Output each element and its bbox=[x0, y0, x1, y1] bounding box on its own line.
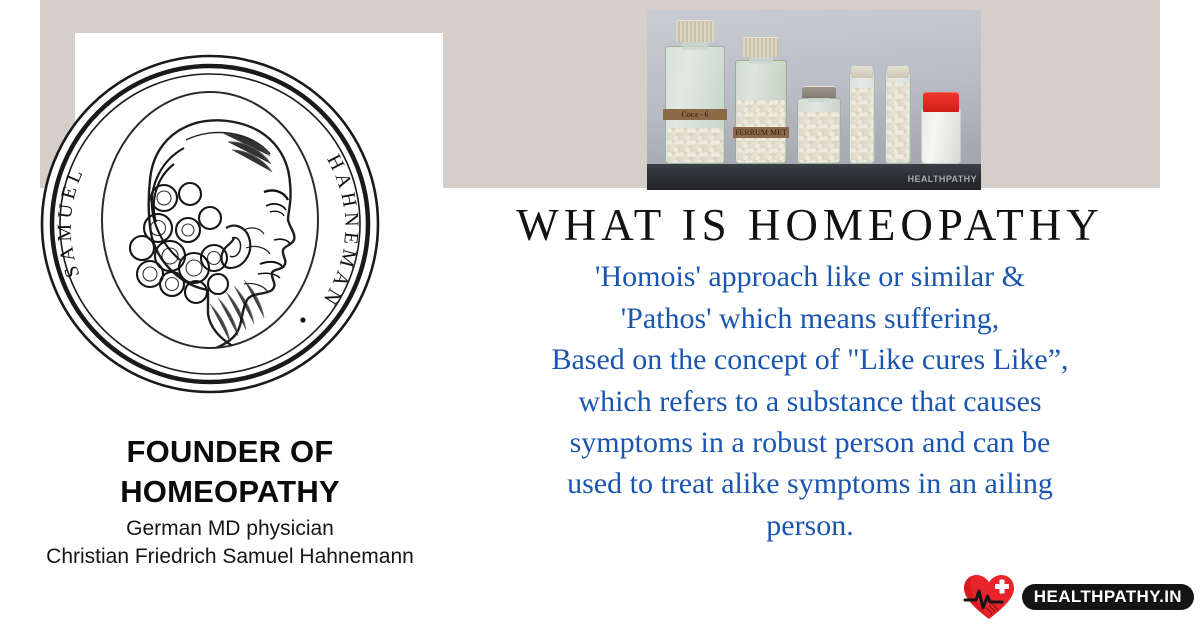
brand-name: HEALTHPATHY.IN bbox=[1022, 584, 1194, 610]
heart-heartbeat-cross-icon bbox=[962, 572, 1016, 622]
body-line: Based on the concept of "Like cures Like… bbox=[460, 339, 1160, 380]
founder-caption-block: FOUNDER OF HOMEOPATHY German MD physicia… bbox=[0, 432, 460, 571]
bottle-1-label: Coca - 6 bbox=[663, 109, 727, 120]
bottle-2-label: FERRUM MET bbox=[733, 127, 789, 138]
founder-subtitle-line-2: Christian Friedrich Samuel Hahnemann bbox=[0, 543, 460, 571]
brand-logo[interactable]: HEALTHPATHY.IN bbox=[962, 572, 1194, 622]
body-line: 'Homois' approach like or similar & bbox=[460, 256, 1160, 297]
bottle-4 bbox=[849, 62, 875, 164]
page-title: WHAT IS HOMEOPATHY bbox=[460, 200, 1160, 250]
founder-subtitle-line-1: German MD physician bbox=[0, 515, 460, 543]
founder-title-line-1: FOUNDER OF bbox=[0, 432, 460, 472]
body-line: person. bbox=[460, 505, 1160, 546]
content-column: WHAT IS HOMEOPATHY 'Homois' approach lik… bbox=[460, 200, 1160, 546]
homeopathy-remedy-bottles-photo: Coca - 6 FERRUM MET HEALTHPATHY bbox=[647, 10, 981, 190]
founder-title: FOUNDER OF HOMEOPATHY bbox=[0, 432, 460, 511]
body-copy: 'Homois' approach like or similar & 'Pat… bbox=[460, 256, 1160, 546]
body-line: symptoms in a robust person and can be bbox=[460, 422, 1160, 463]
founder-title-line-2: HOMEOPATHY bbox=[0, 472, 460, 512]
founder-subtitle: German MD physician Christian Friedrich … bbox=[0, 515, 460, 571]
bottle-2: FERRUM MET bbox=[735, 39, 787, 164]
body-line: 'Pathos' which means suffering, bbox=[460, 298, 1160, 339]
body-line: which refers to a substance that causes bbox=[460, 381, 1160, 422]
bottle-5 bbox=[885, 62, 911, 164]
photo-watermark: HEALTHPATHY bbox=[908, 174, 977, 184]
body-line: used to treat alike symptoms in an ailin… bbox=[460, 463, 1160, 504]
bottle-3 bbox=[797, 84, 841, 164]
bottle-6 bbox=[921, 92, 961, 164]
hahnemann-profile-medallion: SAMUEL HAHNEMANN bbox=[38, 52, 383, 397]
bottle-1: Coca - 6 bbox=[665, 22, 725, 164]
